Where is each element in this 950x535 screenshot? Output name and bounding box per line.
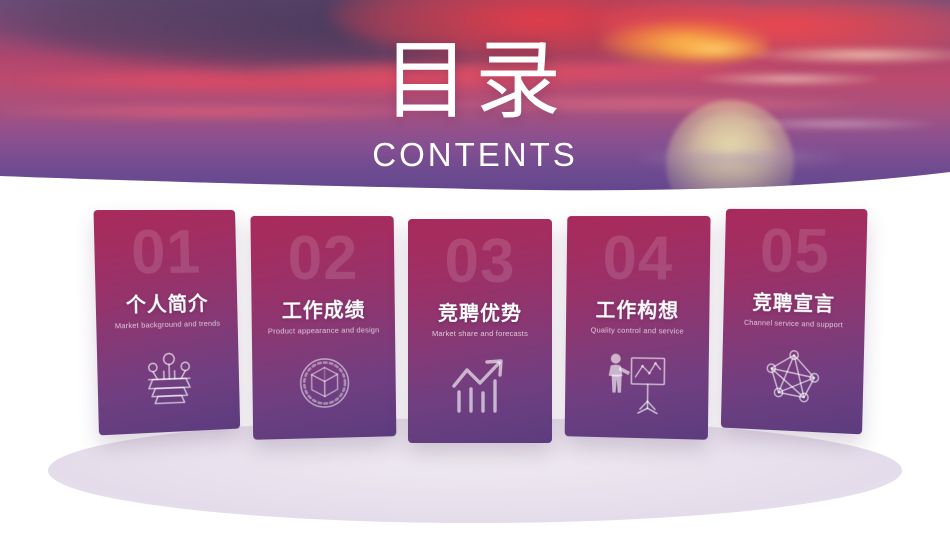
card-description: Market share and forecasts: [412, 329, 548, 338]
card-description: Channel service and support: [727, 317, 861, 329]
contents-card-05[interactable]: 05 竞聘宣言 Channel service and support: [721, 209, 868, 435]
card-number: 04: [566, 228, 710, 291]
card-title: 个人简介: [95, 287, 237, 319]
presenter-board-icon: [565, 347, 709, 420]
card-title: 工作构想: [566, 293, 710, 323]
contents-card-04[interactable]: 04 工作构想 Quality control and service: [565, 216, 711, 440]
card-description: Quality control and service: [570, 325, 705, 336]
contents-card-01[interactable]: 01 个人简介 Market background and trends: [94, 210, 241, 436]
card-title: 工作成绩: [251, 293, 395, 323]
card-title: 竞聘优势: [408, 297, 552, 326]
network-graph-icon: [721, 339, 864, 414]
card-number: 05: [724, 221, 867, 284]
cube-badge-icon: [252, 347, 396, 420]
slide-canvas: 目录 CONTENTS 01 个人简介 Market background an…: [0, 0, 950, 535]
card-description: Market background and trends: [100, 318, 234, 330]
card-number: 02: [251, 228, 395, 291]
contents-card-03[interactable]: 03 竞聘优势 Market share and forecasts: [408, 219, 552, 443]
contents-card-list: 01 个人简介 Market background and trends: [0, 0, 950, 535]
card-number: 03: [408, 231, 552, 293]
team-podium-icon: [97, 340, 240, 415]
card-number: 01: [94, 222, 237, 285]
growth-chart-icon: [408, 351, 552, 421]
card-description: Product appearance and design: [256, 325, 391, 336]
contents-card-02[interactable]: 02 工作成绩 Product appearance and design: [250, 216, 396, 440]
card-title: 竞聘宣言: [723, 286, 865, 318]
